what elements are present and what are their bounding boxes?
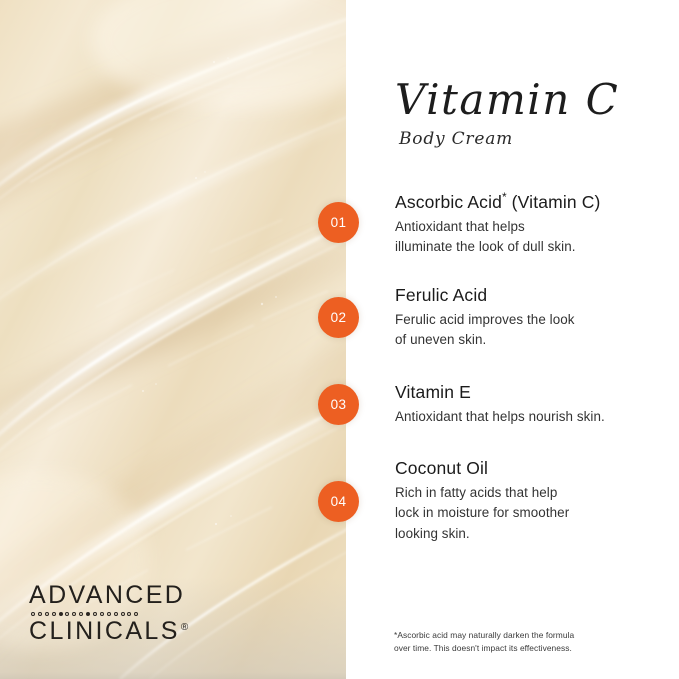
ingredient-badge-2: 02 [318, 297, 359, 338]
content-column: Vitamin C Body Cream Ascorbic Acid* (Vit… [346, 0, 679, 679]
ingredient-badge-1: 01 [318, 202, 359, 243]
ingredient-desc-1: Antioxidant that helps illuminate the lo… [395, 217, 679, 258]
logo-dot-hollow-icon [93, 612, 97, 616]
ingredient-desc-line: Antioxidant that helps nourish skin. [395, 407, 679, 427]
logo-dot-hollow-icon [107, 612, 111, 616]
ingredient-badge-4: 04 [318, 481, 359, 522]
logo-dot-hollow-icon [38, 612, 42, 616]
logo-dot-hollow-icon [114, 612, 118, 616]
brand-name-line-2: CLINICALS [29, 618, 180, 645]
ingredient-block-1: Ascorbic Acid* (Vitamin C) Antioxidant t… [395, 190, 679, 257]
page-subtitle: Body Cream [399, 129, 675, 149]
ingredient-desc-line: illuminate the look of dull skin. [395, 237, 679, 257]
badge-number-2: 02 [331, 310, 347, 325]
brand-logo: ADVANCED CLINICALS ® [29, 582, 209, 645]
badge-number-1: 01 [331, 215, 347, 230]
ingredient-name-4: Coconut Oil [395, 458, 679, 480]
ingredient-desc-3: Antioxidant that helps nourish skin. [395, 407, 679, 427]
ingredient-name-1: Ascorbic Acid* (Vitamin C) [395, 190, 679, 214]
logo-dot-hollow-icon [72, 612, 76, 616]
logo-dot-hollow-icon [65, 612, 69, 616]
ingredient-block-4: Coconut Oil Rich in fatty acids that hel… [395, 458, 679, 544]
badge-number-4: 04 [331, 494, 347, 509]
logo-dot-hollow-icon [52, 612, 56, 616]
logo-dot-hollow-icon [79, 612, 83, 616]
registered-trademark-icon: ® [181, 623, 188, 634]
logo-dot-hollow-icon [121, 612, 125, 616]
logo-dot-hollow-icon [45, 612, 49, 616]
footnote: *Ascorbic acid may naturally darken the … [394, 629, 634, 654]
ingredient-name-2: Ferulic Acid [395, 285, 679, 307]
ingredient-name-3: Vitamin E [395, 382, 679, 404]
footnote-line: over time. This doesn't impact its effec… [394, 642, 634, 655]
badge-number-3: 03 [331, 397, 347, 412]
logo-dot-hollow-icon [127, 612, 131, 616]
cream-swirl-graphic [0, 0, 346, 679]
logo-dot-hollow-icon [134, 612, 138, 616]
logo-dot-filled-icon [86, 612, 90, 616]
ingredient-desc-line: of uneven skin. [395, 330, 679, 350]
product-infographic: Vitamin C Body Cream Ascorbic Acid* (Vit… [0, 0, 679, 679]
ingredient-desc-line: lock in moisture for smoother [395, 503, 679, 523]
ingredient-name-suffix-1: (Vitamin C) [507, 192, 601, 212]
ingredient-name-text-1: Ascorbic Acid [395, 192, 502, 212]
cream-texture-panel [0, 0, 346, 679]
logo-dot-hollow-icon [31, 612, 35, 616]
logo-dot-divider [31, 612, 209, 616]
brand-name-line-1: ADVANCED [29, 582, 209, 609]
logo-dot-hollow-icon [100, 612, 104, 616]
ingredient-desc-line: Antioxidant that helps [395, 217, 679, 237]
ingredient-desc-line: looking skin. [395, 524, 679, 544]
ingredient-desc-4: Rich in fatty acids that help lock in mo… [395, 483, 679, 544]
ingredient-desc-line: Rich in fatty acids that help [395, 483, 679, 503]
footnote-line: *Ascorbic acid may naturally darken the … [394, 629, 634, 642]
ingredient-block-3: Vitamin E Antioxidant that helps nourish… [395, 382, 679, 427]
ingredient-badge-3: 03 [318, 384, 359, 425]
brand-name-line-2-wrap: CLINICALS ® [29, 618, 209, 645]
ingredient-desc-line: Ferulic acid improves the look [395, 310, 679, 330]
ingredient-desc-2: Ferulic acid improves the look of uneven… [395, 310, 679, 351]
ingredient-block-2: Ferulic Acid Ferulic acid improves the l… [395, 285, 679, 351]
page-title: Vitamin C [395, 78, 675, 122]
logo-dot-filled-icon [59, 612, 63, 616]
title-block: Vitamin C Body Cream [395, 78, 675, 149]
